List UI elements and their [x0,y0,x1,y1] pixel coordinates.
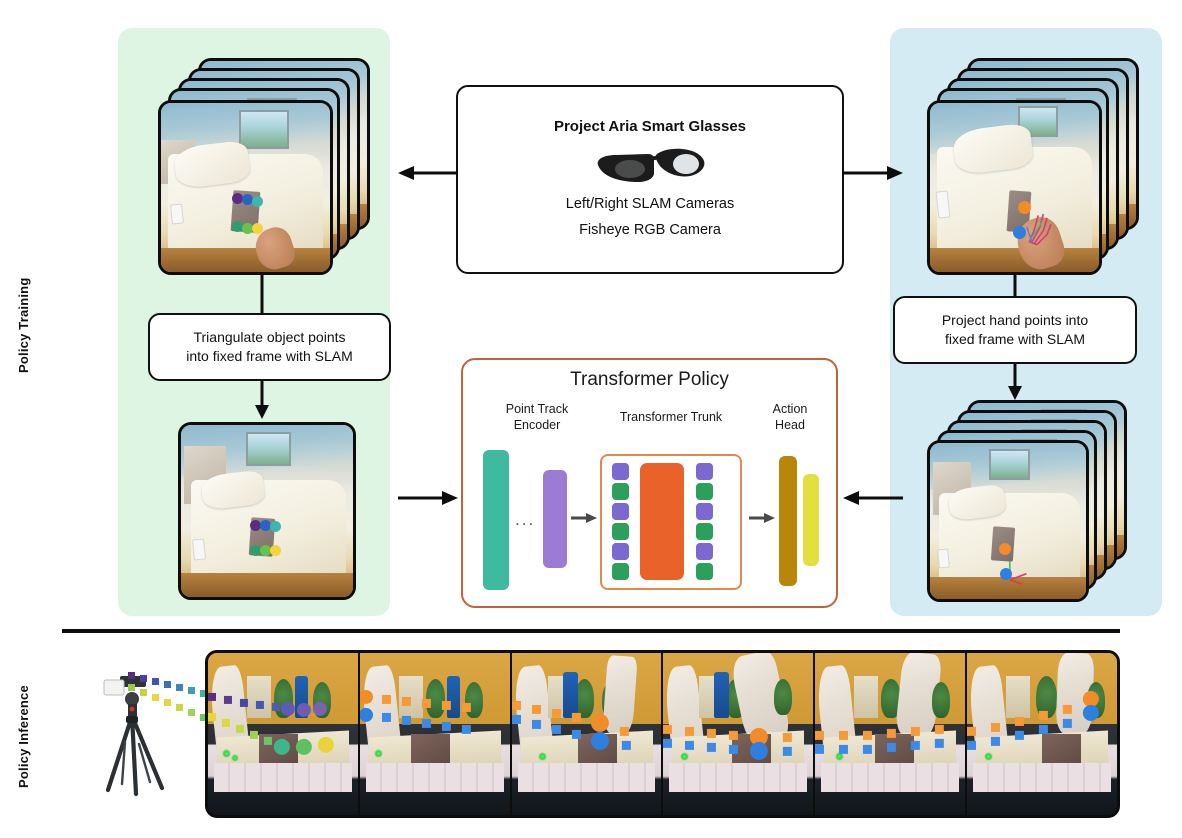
inference-filmstrip [205,650,1120,818]
project-line-2: fixed frame with SLAM [945,330,1085,349]
inference-frame [360,653,512,815]
triangulate-line-1: Triangulate object points [193,328,345,347]
connector-line-down [250,272,274,316]
smart-glasses-icon [590,143,710,189]
trunk-token [612,563,629,580]
action-head-label: Action Head [751,402,829,433]
inference-frame [512,653,664,815]
triangulate-step-box: Triangulate object points into fixed fra… [148,313,391,381]
transformer-trunk-frame [600,454,742,590]
trunk-token [696,563,713,580]
section-divider [62,629,1120,633]
inference-frame [663,653,815,815]
inference-frame [815,653,967,815]
arrow-glasses-to-object-frames [398,162,458,184]
hand-track-overlay [512,653,662,813]
arrow-encoder-to-trunk [571,510,597,526]
trunk-token [696,523,713,540]
arrow-trunk-to-head [749,510,775,526]
figure-root: Policy Training Policy Inference [0,0,1182,838]
arrow-down-to-object-points [250,381,274,419]
action-head-bar [779,456,797,586]
triangulate-line-2: into fixed frame with SLAM [186,347,353,366]
point-track-encoder-label: Point Track Encoder [477,402,597,433]
trunk-token [612,503,629,520]
project-line-1: Project hand points into [942,311,1088,330]
hand-track-overlay [663,653,813,813]
trunk-token [696,503,713,520]
trunk-core-block [640,463,684,580]
trunk-token [612,523,629,540]
trunk-token [696,543,713,560]
encoder-input-bar [483,450,509,590]
arrow-hand-points-to-policy [843,487,903,509]
action-output-bar [803,474,819,566]
frame-sheet-front [927,440,1089,602]
frame-sheet-front [158,100,333,275]
hand-track-overlay [967,653,1117,813]
transformer-policy-box: Transformer Policy Point Track Encoder T… [461,358,838,608]
encoder-ellipsis: ... [515,510,535,530]
fixed-frame-hand-points-stack [927,400,1147,600]
trunk-token [612,483,629,500]
transformer-trunk-label: Transformer Trunk [596,410,746,426]
row-label-policy-training: Policy Training [16,160,31,490]
project-aria-smart-glasses-box: Project Aria Smart Glasses Left/Right SL… [456,85,844,274]
trunk-token [612,463,629,480]
hand-track-overlay [815,653,965,813]
inference-frame [967,653,1117,815]
glasses-box-title: Project Aria Smart Glasses [554,118,746,135]
encoder-output-bar [543,470,567,568]
glasses-spec-line-2: Fisheye RGB Camera [579,221,721,241]
arrow-down-to-hand-points [1003,364,1027,400]
arrow-glasses-to-hand-frames [843,162,903,184]
frame-sheet-front [927,100,1102,275]
egocentric-hand-frames-stack [927,58,1147,273]
trunk-token [612,543,629,560]
trunk-token [696,463,713,480]
glasses-spec-line-1: Left/Right SLAM Cameras [566,195,734,215]
row-label-policy-inference: Policy Inference [16,652,31,822]
policy-title: Transformer Policy [463,369,836,391]
project-hand-points-step-box: Project hand points into fixed frame wit… [893,296,1137,364]
hand-track-overlay [360,653,510,813]
arrow-object-points-to-policy [398,487,458,509]
frame-sheet-front [178,422,356,600]
egocentric-object-frames-stack [158,58,378,273]
object-track-overlay [208,653,358,813]
fixed-frame-object-points-image [178,422,356,600]
trunk-token [696,483,713,500]
inference-frame [208,653,360,815]
